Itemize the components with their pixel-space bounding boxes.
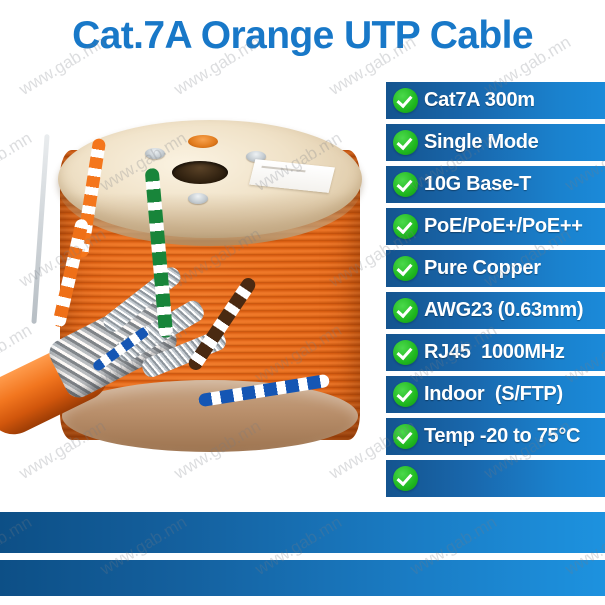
check-icon [393, 340, 418, 365]
bottom-accent-bar [0, 560, 605, 596]
feature-label: Pure Copper [424, 257, 541, 280]
spool-center-hole [172, 161, 228, 184]
page-title: Cat.7A Orange UTP Cable [0, 14, 605, 58]
feature-row: PoE/PoE+/PoE++ [386, 208, 605, 245]
drain-wire [31, 134, 49, 324]
feature-row: Temp -20 to 75°C [386, 418, 605, 455]
watermark-text: www.gab.mn [407, 0, 501, 4]
check-icon [393, 130, 418, 155]
feature-row: AWG23 (0.63mm) [386, 292, 605, 329]
product-photo [0, 58, 386, 490]
spool-rivet [145, 148, 165, 159]
check-icon [393, 424, 418, 449]
check-icon [393, 256, 418, 281]
feature-label: Single Mode [424, 131, 538, 154]
feature-label: Indoor (S/FTP) [424, 383, 563, 406]
bottom-accent-bar [0, 512, 605, 553]
feature-row: Pure Copper [386, 250, 605, 287]
check-icon [393, 382, 418, 407]
check-icon [393, 214, 418, 239]
watermark-text: www.gab.mn [97, 0, 191, 4]
check-icon [393, 172, 418, 197]
feature-row-empty [386, 460, 605, 497]
feature-row: 10G Base-T [386, 166, 605, 203]
watermark-text: www.gab.mn [252, 0, 346, 4]
watermark-text: www.gab.mn [562, 0, 605, 4]
feature-row: Indoor (S/FTP) [386, 376, 605, 413]
check-icon [393, 298, 418, 323]
feature-label: Temp -20 to 75°C [424, 425, 580, 448]
feature-row: Cat7A 300m [386, 82, 605, 119]
spool-bottom-flange [62, 380, 358, 452]
spool-feed-hole [188, 135, 218, 148]
product-banner: Cat.7A Orange UTP Cable Cat7A 300m Singl… [0, 0, 605, 605]
check-icon [393, 466, 418, 491]
feature-label: 10G Base-T [424, 173, 531, 196]
watermark-text: www.gab.mn [0, 0, 36, 4]
feature-list: Cat7A 300m Single Mode 10G Base-T PoE/Po… [386, 82, 605, 502]
check-icon [393, 88, 418, 113]
feature-label: AWG23 (0.63mm) [424, 299, 583, 322]
spool-rivet [188, 193, 208, 204]
feature-label: RJ45 1000MHz [424, 341, 565, 364]
feature-label: PoE/PoE+/PoE++ [424, 215, 583, 238]
feature-label: Cat7A 300m [424, 89, 535, 112]
feature-row: Single Mode [386, 124, 605, 161]
feature-row: RJ45 1000MHz [386, 334, 605, 371]
